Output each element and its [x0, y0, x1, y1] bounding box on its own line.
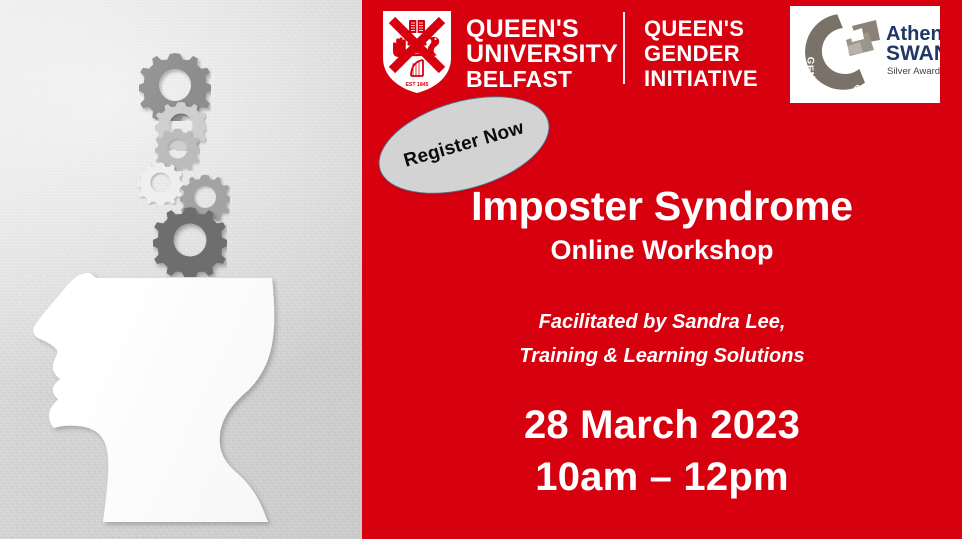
- illustration-panel: [0, 0, 362, 539]
- gear-4-icon: [138, 160, 183, 205]
- content-panel: EST 1845 QUEEN'S UNIVERSITY BELFAST QUEE…: [362, 0, 962, 539]
- facilitator-block: Facilitated by Sandra Lee, Training & Le…: [362, 305, 962, 373]
- university-line-2: UNIVERSITY: [466, 42, 618, 67]
- silver-award-text: Silver Award: [887, 66, 940, 77]
- athena-swan-badge: GENDER CHARTER Athena SWAN Silver Award: [790, 6, 940, 103]
- facilitator-name: Facilitated by Sandra Lee,: [362, 305, 962, 339]
- event-date: 28 March 2023: [362, 398, 962, 453]
- gender-initiative-wordmark: QUEEN'S GENDER INITIATIVE: [644, 16, 758, 91]
- swan-text: SWAN: [886, 42, 940, 65]
- header-divider: [623, 12, 625, 84]
- university-line-3: BELFAST: [466, 67, 618, 92]
- branding-header: EST 1845 QUEEN'S UNIVERSITY BELFAST QUEE…: [362, 0, 962, 112]
- crest-established-text: EST 1845: [405, 82, 428, 88]
- gear-6-icon: [153, 203, 227, 277]
- page-subtitle: Online Workshop: [362, 234, 962, 266]
- event-poster: EST 1845 QUEEN'S UNIVERSITY BELFAST QUEE…: [0, 0, 962, 539]
- page-title: Imposter Syndrome: [362, 183, 962, 229]
- event-time: 10am – 12pm: [362, 450, 962, 505]
- university-line-1: QUEEN'S: [466, 17, 618, 42]
- facilitator-organisation: Training & Learning Solutions: [362, 339, 962, 373]
- university-wordmark: QUEEN'S UNIVERSITY BELFAST: [466, 17, 618, 92]
- initiative-line-3: INITIATIVE: [644, 66, 758, 91]
- initiative-line-1: QUEEN'S: [644, 16, 758, 41]
- queens-university-lockup: EST 1845 QUEEN'S UNIVERSITY BELFAST: [380, 8, 618, 96]
- queens-university-crest-icon: EST 1845: [380, 8, 454, 96]
- initiative-line-2: GENDER: [644, 41, 758, 66]
